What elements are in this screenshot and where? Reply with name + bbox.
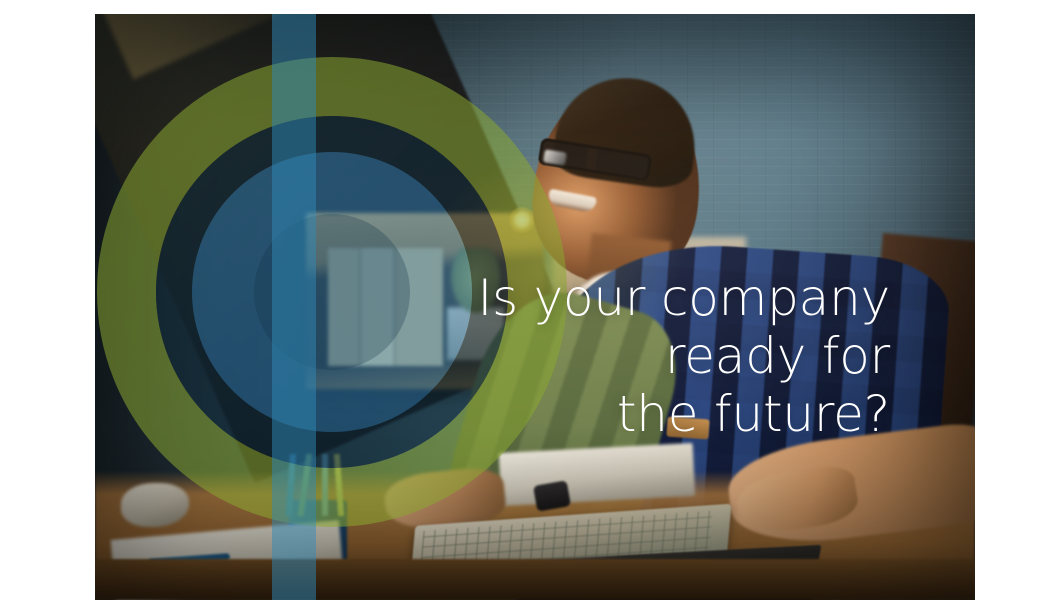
page-title: Is your company ready for the future? [370,269,890,443]
slide-canvas: Is your company ready for the future? [0,0,1060,609]
slide-photo: Is your company ready for the future? [95,14,975,600]
